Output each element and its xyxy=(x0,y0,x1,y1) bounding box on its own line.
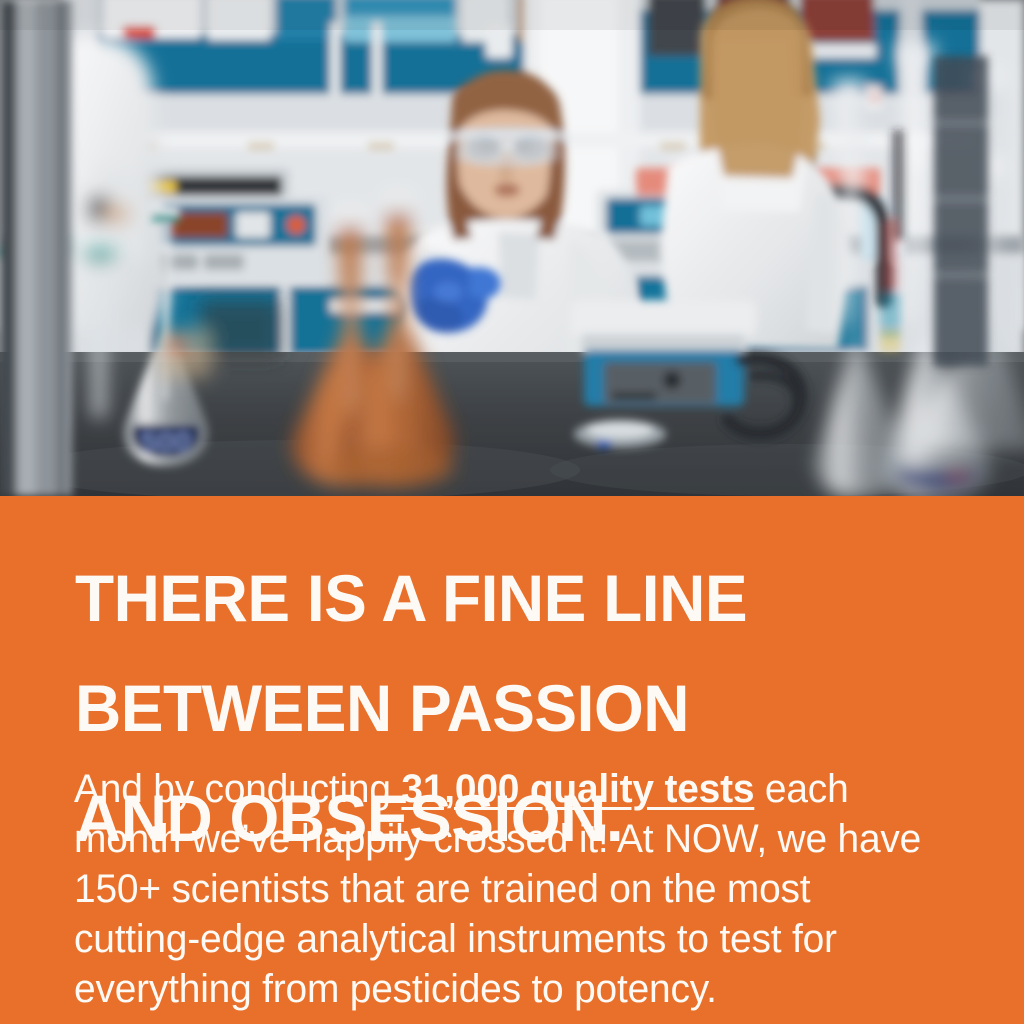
social-media-graphic: 500 xyxy=(0,0,1024,1024)
headline-line-2: BETWEEN PASSION xyxy=(75,681,948,736)
body-text-before: And by conducting xyxy=(74,767,401,811)
quality-tests-emphasis: 31,000 quality tests xyxy=(401,767,754,811)
lab-photo-illustration: 500 xyxy=(0,0,1024,496)
orange-text-panel: THERE IS A FINE LINE BETWEEN PASSION AND… xyxy=(0,496,1024,1024)
body-paragraph: And by conducting 31,000 quality tests e… xyxy=(74,764,941,1014)
headline-line-1: THERE IS A FINE LINE xyxy=(75,571,948,626)
lab-photograph: 500 xyxy=(0,0,1024,496)
